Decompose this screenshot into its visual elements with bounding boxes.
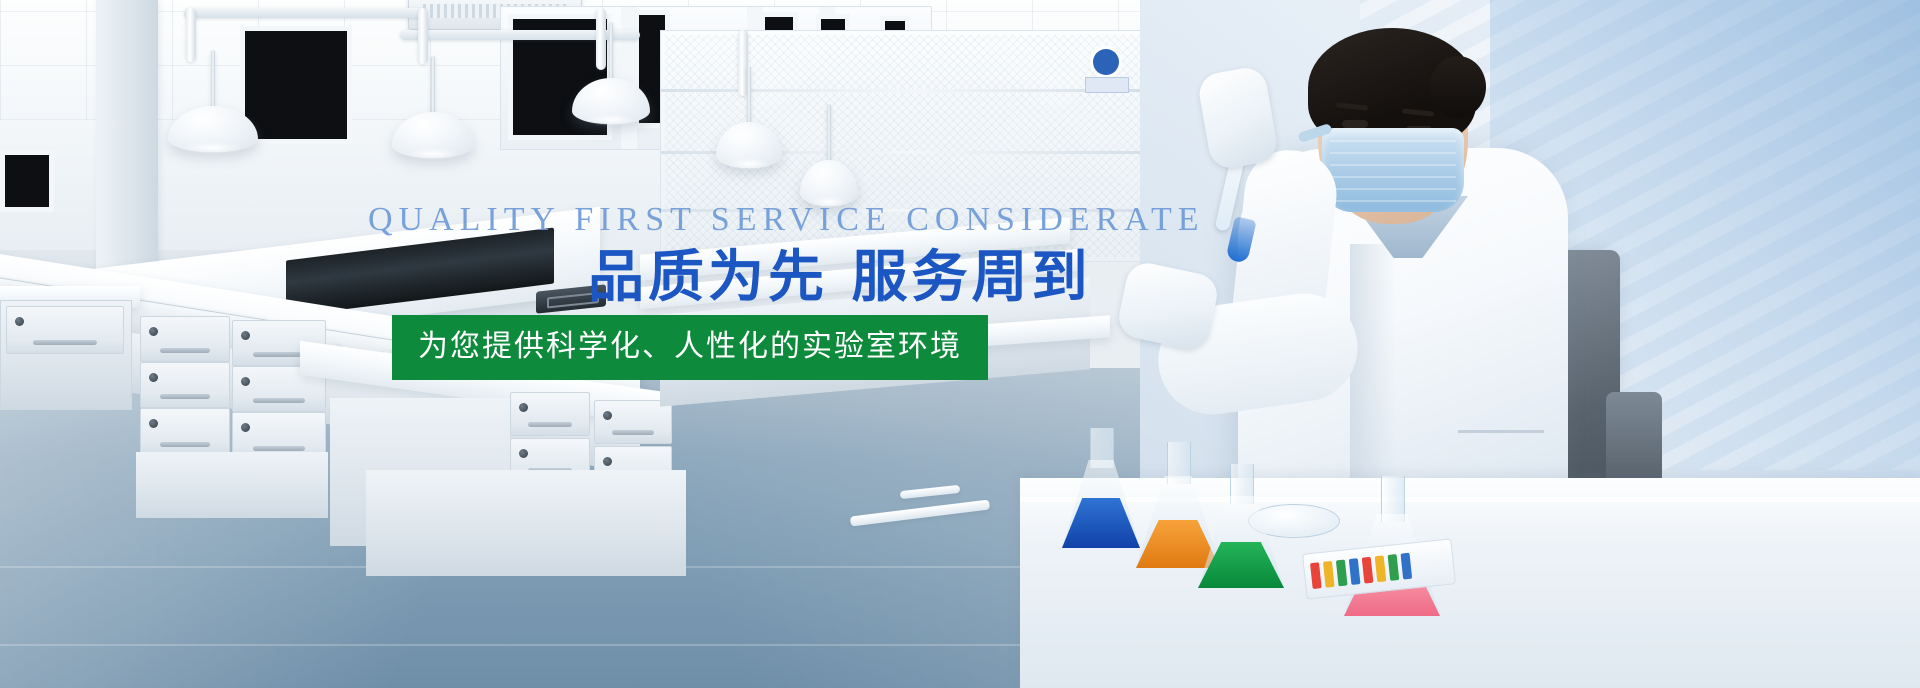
banner-headline: 品质为先 服务周到	[588, 250, 1092, 306]
banner-subtitle-bar: 为您提供科学化、人性化的实验室环境	[392, 315, 988, 380]
banner-text-overlay: QUALITY FIRST SERVICE CONSIDERATE 品质为先 服…	[0, 0, 1920, 688]
banner-subtitle-text: 为您提供科学化、人性化的实验室环境	[418, 329, 962, 364]
banner-eyebrow-text: QUALITY FIRST SERVICE CONSIDERATE	[368, 203, 1205, 237]
hero-banner: QUALITY FIRST SERVICE CONSIDERATE 品质为先 服…	[0, 0, 1920, 688]
